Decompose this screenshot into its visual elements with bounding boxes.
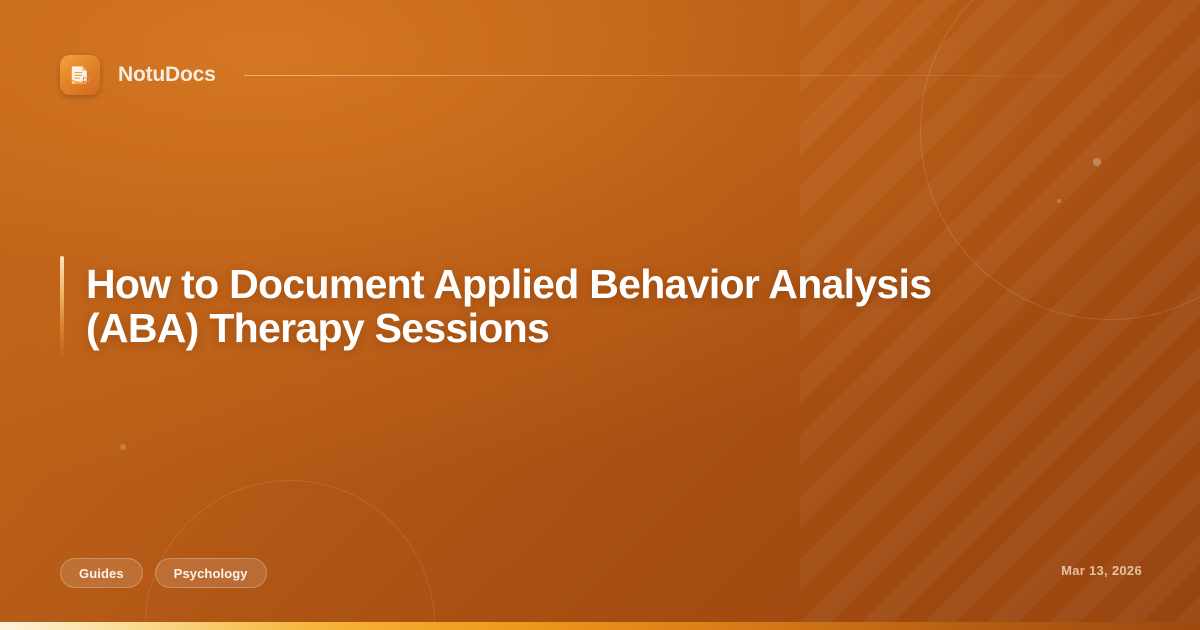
page-title: How to Document Applied Behavior Analysi… [86, 256, 960, 359]
tag-guides[interactable]: Guides [60, 558, 143, 588]
decorative-dot-small [1057, 199, 1061, 203]
og-banner-card: NotuDocs How to Document Applied Behavio… [0, 0, 1200, 630]
decorative-dot-large [1093, 158, 1101, 166]
decorative-circle-top-right [920, 0, 1200, 320]
publish-date: Mar 13, 2026 [1061, 563, 1142, 578]
title-block: How to Document Applied Behavior Analysi… [60, 256, 960, 359]
document-pen-icon [60, 55, 100, 95]
tag-list: Guides Psychology [60, 558, 267, 588]
title-accent-bar [60, 256, 64, 359]
bottom-accent-bar [0, 622, 1200, 630]
header-divider-rule [244, 75, 1140, 76]
tag-psychology[interactable]: Psychology [155, 558, 267, 588]
brand-header: NotuDocs [60, 55, 1140, 95]
decorative-circle-bottom-left [145, 480, 435, 630]
decorative-dot-left [120, 444, 126, 450]
brand-name: NotuDocs [118, 63, 216, 87]
